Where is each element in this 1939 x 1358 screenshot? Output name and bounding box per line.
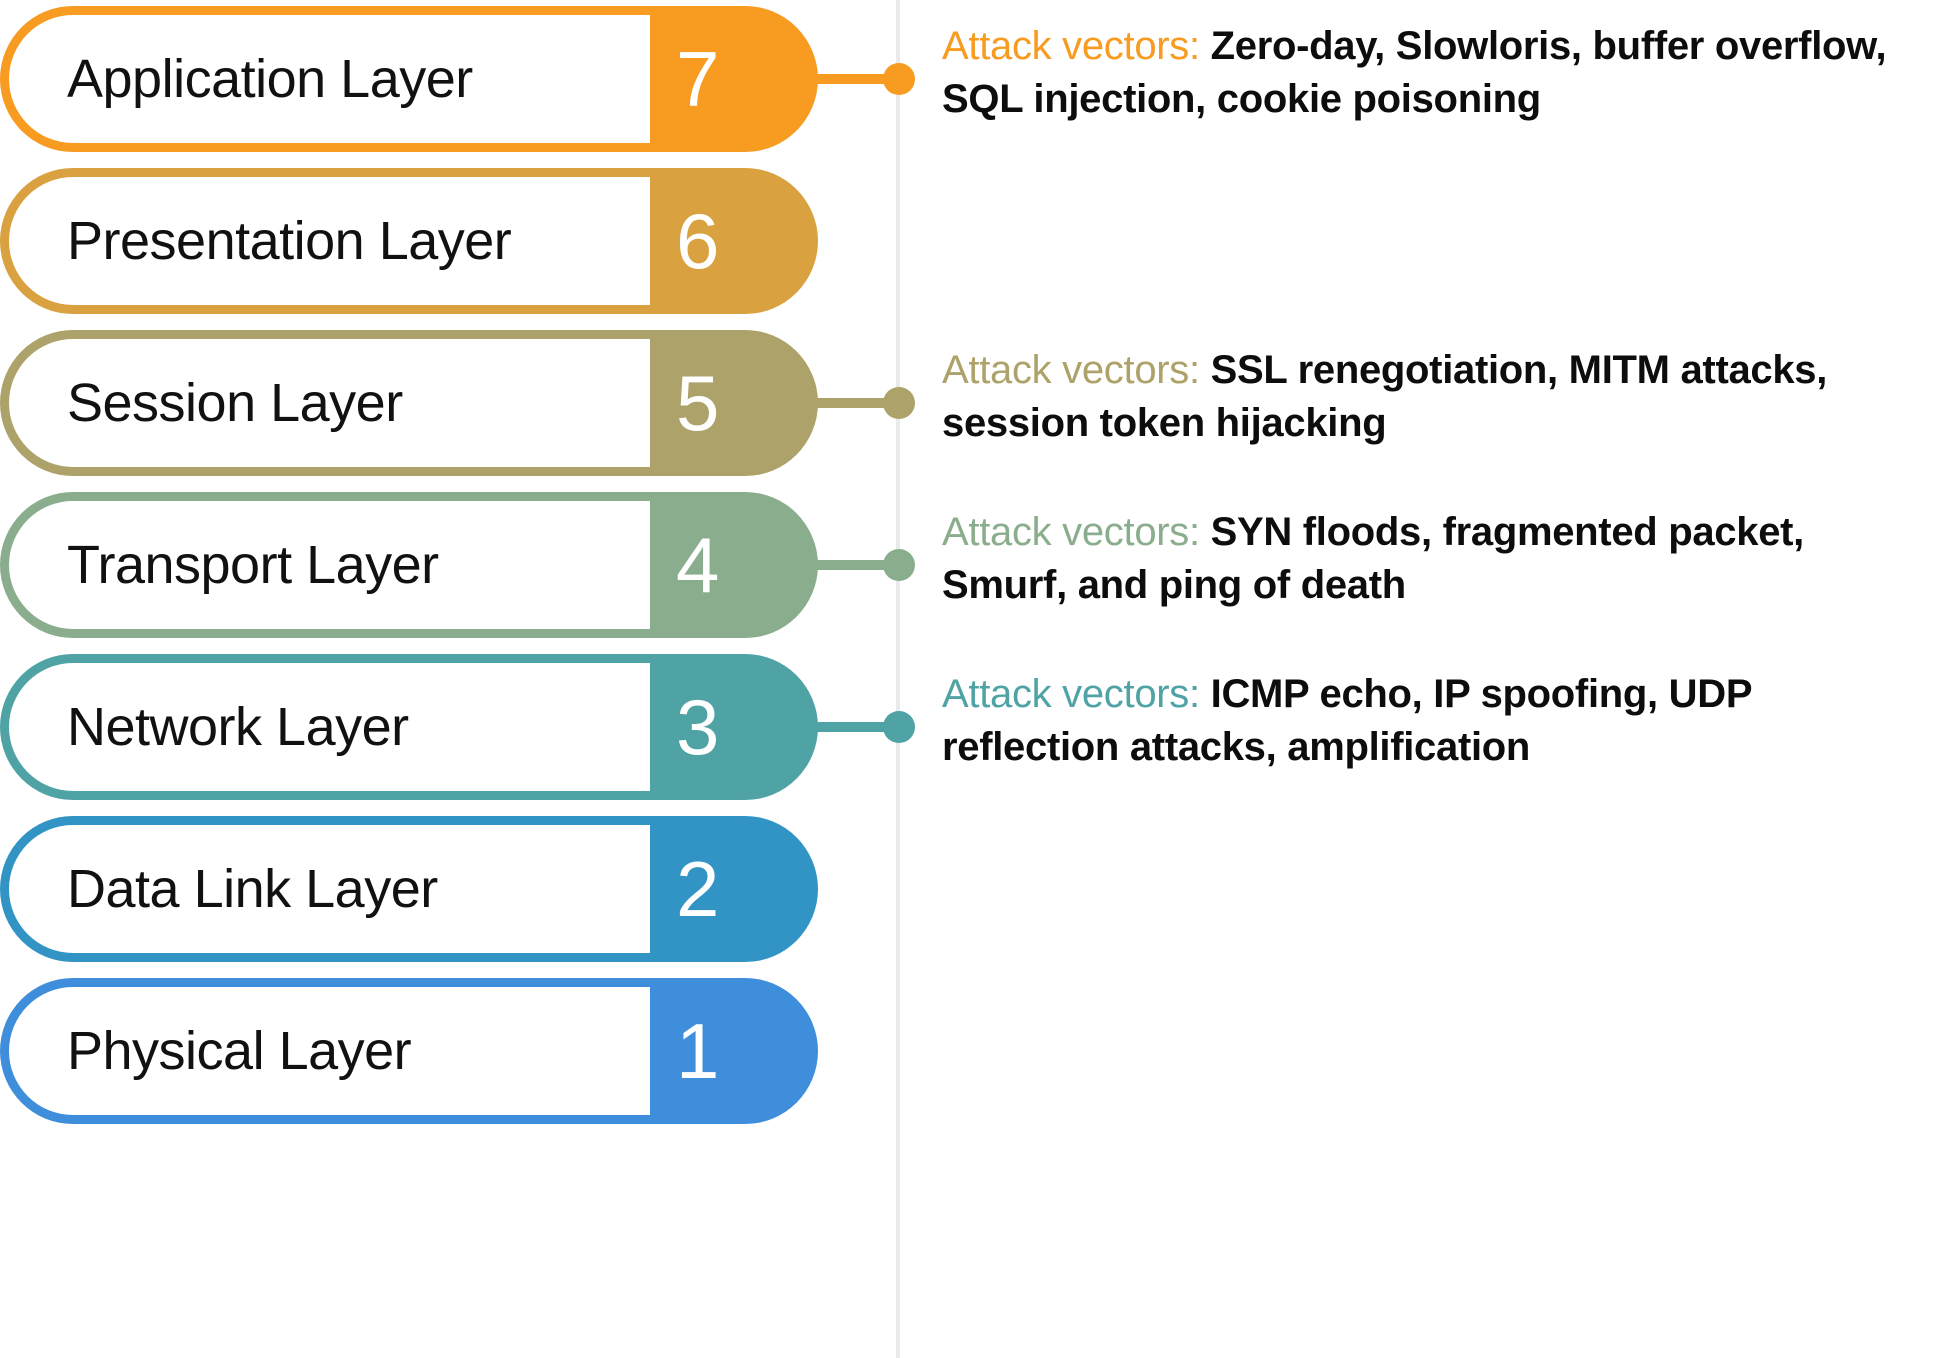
osi-diagram: Application Layer7Presentation Layer6Ses…	[0, 0, 1939, 1358]
attack-vectors-annotation-5: Attack vectors: SSL renegotiation, MITM …	[942, 344, 1932, 450]
layer-name: Transport Layer	[67, 538, 439, 592]
layer-name: Session Layer	[67, 376, 403, 430]
connector-dot-4	[883, 549, 915, 581]
layer-name: Presentation Layer	[67, 214, 511, 268]
layer-number: 6	[676, 202, 719, 280]
layer-number-block: 3	[650, 654, 818, 800]
layer-number-block: 2	[650, 816, 818, 962]
layer-number: 4	[676, 526, 719, 604]
layer-name: Data Link Layer	[67, 862, 438, 916]
layer-label-panel: Application Layer	[9, 15, 650, 143]
layer-number: 7	[676, 40, 719, 118]
layer-number-block: 5	[650, 330, 818, 476]
layer-label-panel: Network Layer	[9, 663, 650, 791]
layer-label-panel: Physical Layer	[9, 987, 650, 1115]
connector-dot-5	[883, 387, 915, 419]
attack-vectors-label: Attack vectors:	[942, 348, 1200, 392]
layer-number: 1	[676, 1012, 719, 1090]
layer-label-panel: Presentation Layer	[9, 177, 650, 305]
layer-pill-4[interactable]: Transport Layer4	[0, 492, 818, 638]
layer-pill-1[interactable]: Physical Layer1	[0, 978, 818, 1124]
layer-pill-5[interactable]: Session Layer5	[0, 330, 818, 476]
attack-vectors-label: Attack vectors:	[942, 24, 1200, 68]
layer-number-block: 4	[650, 492, 818, 638]
vertical-divider	[896, 0, 900, 1358]
layer-number: 2	[676, 850, 719, 928]
connector-dot-7	[883, 63, 915, 95]
layer-number-block: 1	[650, 978, 818, 1124]
attack-vectors-annotation-4: Attack vectors: SYN floods, fragmented p…	[942, 506, 1932, 612]
layer-name: Physical Layer	[67, 1024, 411, 1078]
attack-vectors-annotation-3: Attack vectors: ICMP echo, IP spoofing, …	[942, 668, 1932, 774]
layer-label-panel: Data Link Layer	[9, 825, 650, 953]
layer-label-panel: Transport Layer	[9, 501, 650, 629]
layer-number: 3	[676, 688, 719, 766]
layer-number: 5	[676, 364, 719, 442]
layer-pill-6[interactable]: Presentation Layer6	[0, 168, 818, 314]
layer-number-block: 7	[650, 6, 818, 152]
attack-vectors-annotation-7: Attack vectors: Zero-day, Slowloris, buf…	[942, 20, 1932, 126]
layer-pill-7[interactable]: Application Layer7	[0, 6, 818, 152]
layer-name: Network Layer	[67, 700, 409, 754]
layer-number-block: 6	[650, 168, 818, 314]
layer-name: Application Layer	[67, 52, 473, 106]
layer-pill-3[interactable]: Network Layer3	[0, 654, 818, 800]
attack-vectors-label: Attack vectors:	[942, 672, 1200, 716]
layer-label-panel: Session Layer	[9, 339, 650, 467]
attack-vectors-label: Attack vectors:	[942, 510, 1200, 554]
connector-dot-3	[883, 711, 915, 743]
layer-pill-2[interactable]: Data Link Layer2	[0, 816, 818, 962]
